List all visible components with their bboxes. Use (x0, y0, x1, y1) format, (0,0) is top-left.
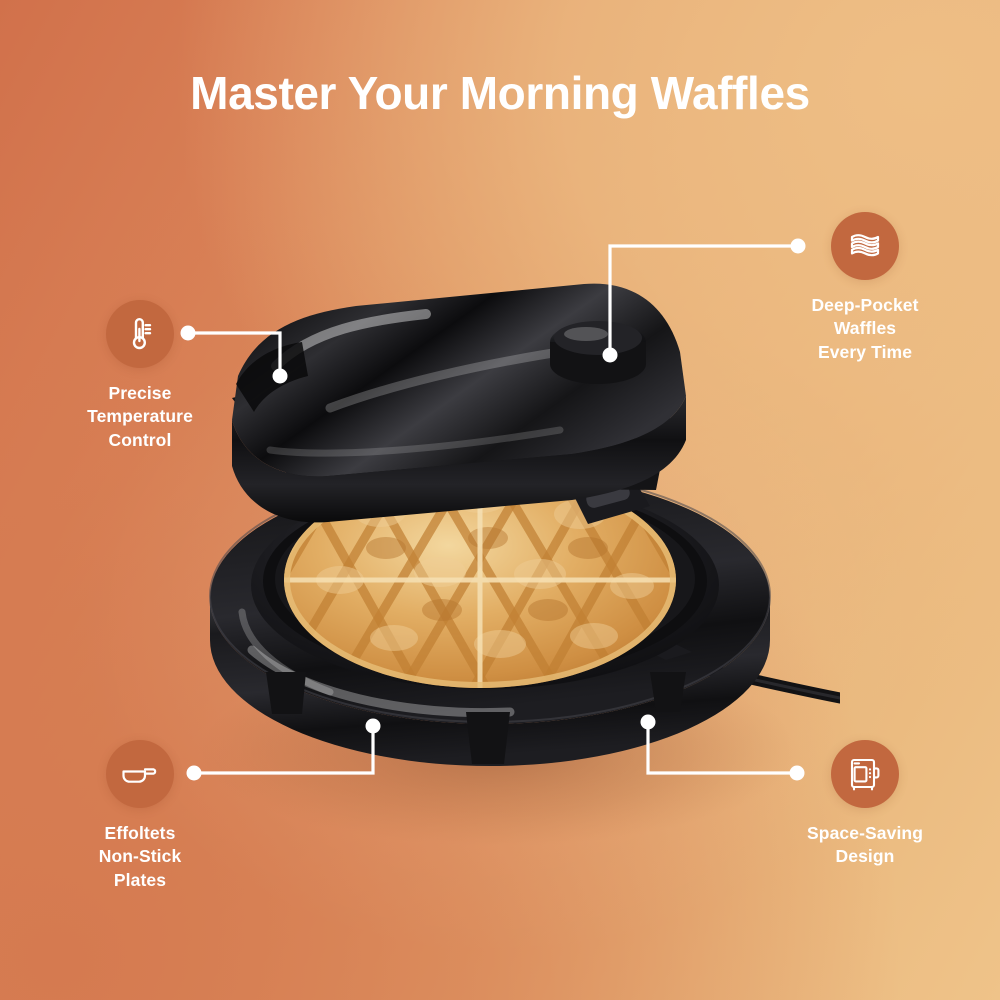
feature-icon-badge (831, 740, 899, 808)
feature-caption: Space-Saving Design (750, 822, 980, 869)
compact-appliance-icon (845, 754, 885, 794)
feature-non-stick-plates[interactable]: Effoltets Non-Stick Plates (25, 740, 255, 892)
thermometer-icon (121, 315, 159, 353)
feature-icon-badge (106, 300, 174, 368)
feature-caption: Precise Temperature Control (25, 382, 255, 452)
frying-pan-icon (119, 753, 161, 795)
open-lid (232, 284, 686, 523)
infographic-canvas: Master Your Morning Waffles (0, 0, 1000, 1000)
feature-caption: Deep-Pocket Waffles Every Time (750, 294, 980, 364)
feature-space-saving-design[interactable]: Space-Saving Design (750, 740, 980, 869)
feature-icon-badge (106, 740, 174, 808)
product-image (180, 280, 840, 860)
waffle-stack-icon (845, 226, 885, 266)
page-title: Master Your Morning Waffles (0, 68, 1000, 119)
feature-icon-badge (831, 212, 899, 280)
feature-precise-temperature-control[interactable]: Precise Temperature Control (25, 300, 255, 452)
feature-deep-pocket-waffles[interactable]: Deep-Pocket Waffles Every Time (750, 212, 980, 364)
lid-knob (550, 321, 646, 384)
feature-caption: Effoltets Non-Stick Plates (25, 822, 255, 892)
